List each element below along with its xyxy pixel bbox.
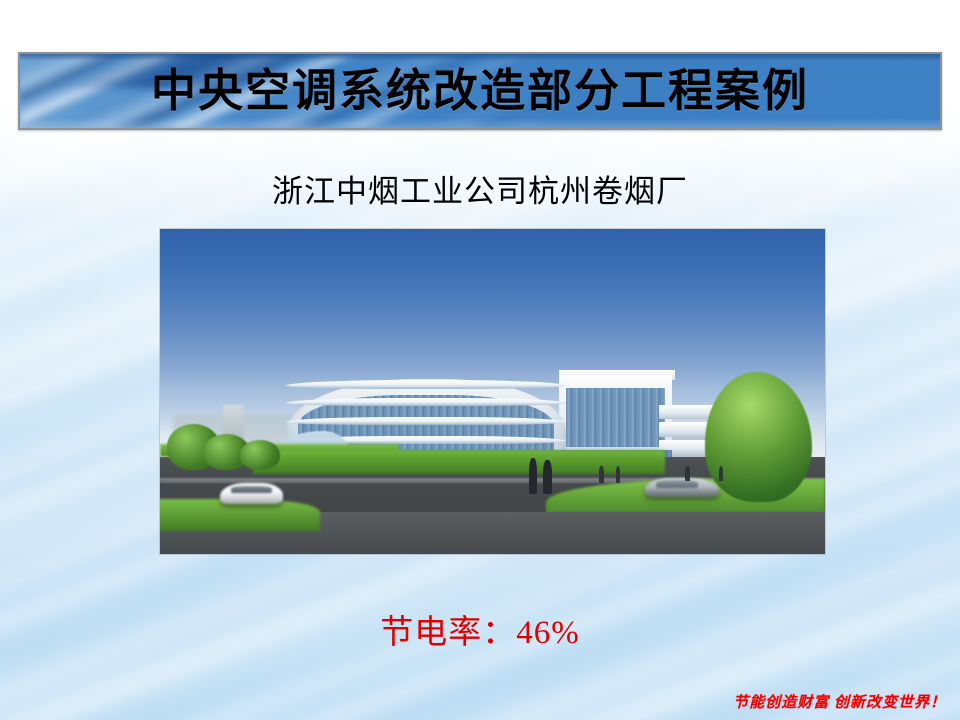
photo-pedestrian-5	[685, 466, 689, 481]
photo-pedestrian-6	[719, 466, 723, 481]
slide-title: 中央空调系统改造部分工程案例	[151, 69, 809, 114]
photo-car-silver-windshield	[656, 480, 698, 487]
photo-tree-left-3	[240, 440, 280, 469]
photo-pedestrian-3	[599, 466, 604, 482]
slide-canvas: 中央空调系统改造部分工程案例 浙江中烟工业公司杭州卷烟厂	[0, 0, 960, 720]
photo-car-white-windshield	[231, 486, 271, 493]
photo-car-silver-sedan	[645, 478, 718, 498]
slide-subtitle: 浙江中烟工业公司杭州卷烟厂	[0, 166, 960, 211]
photo-pedestrian-1	[529, 458, 537, 494]
building-rendering-image	[160, 229, 825, 554]
footer-slogan: 节能创造财富 创新改变世界！	[733, 691, 946, 712]
banner-bottom-highlight	[20, 118, 940, 128]
savings-rate-text: 节电率：46%	[0, 605, 960, 653]
photo-building-deck-1	[286, 380, 565, 388]
photo-pedestrian-4	[616, 466, 621, 482]
photo-lawn-left-foreground	[160, 499, 320, 532]
photo-building-right-glass	[566, 388, 665, 448]
photo-building-deck-2	[286, 398, 565, 406]
photo-car-white-sedan	[220, 483, 283, 504]
banner-top-shading	[20, 54, 940, 61]
photo-lawn-middle	[253, 450, 665, 474]
photo-pedestrian-2	[543, 460, 552, 494]
title-banner: 中央空调系统改造部分工程案例	[18, 52, 942, 130]
photo-building-deck-3	[286, 417, 565, 425]
